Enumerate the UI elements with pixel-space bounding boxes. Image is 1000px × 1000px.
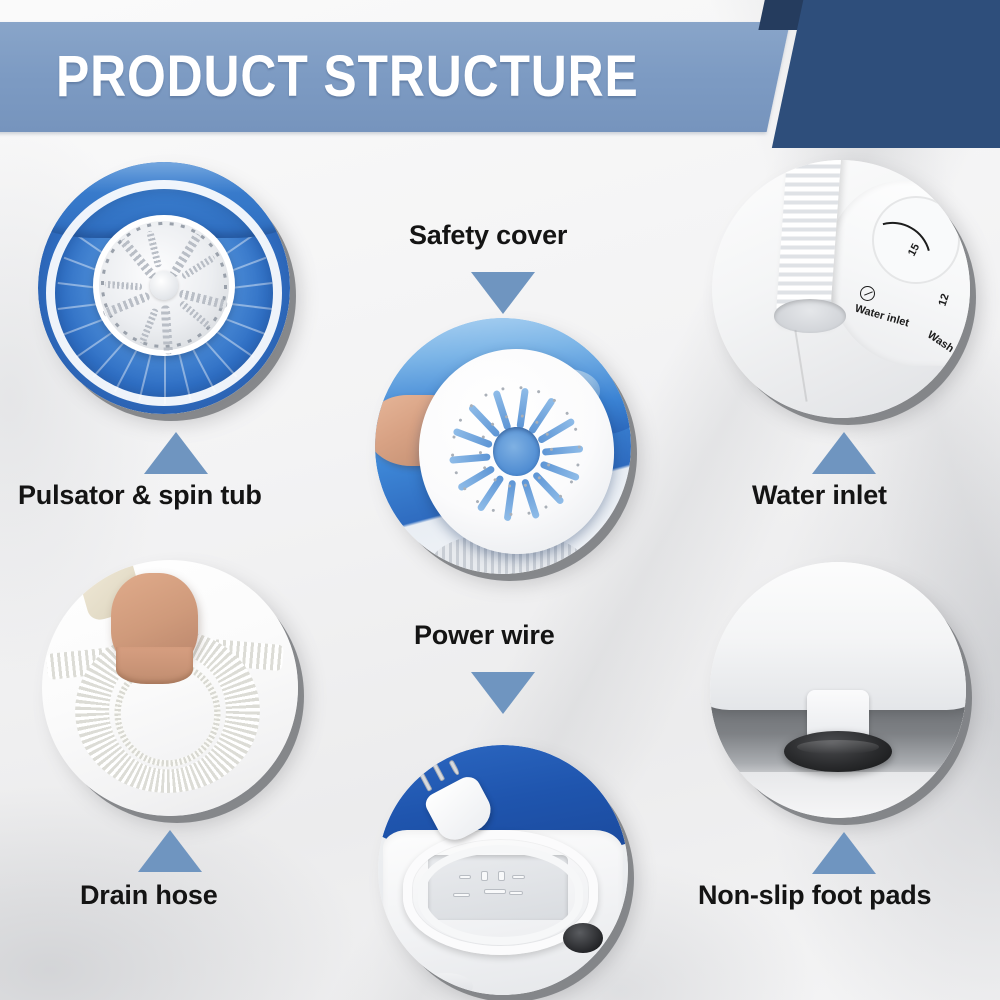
photo-inner <box>378 745 628 995</box>
inlet-port <box>774 299 846 333</box>
photo-inner <box>42 560 298 816</box>
header-banner: PRODUCT STRUCTURE <box>0 0 1000 152</box>
machine-foot <box>418 973 473 996</box>
photo-inner <box>375 318 631 574</box>
pointer-triangle-down-power-wire <box>471 672 535 714</box>
photo-inner <box>710 562 966 818</box>
pointer-triangle-up-foot-pads <box>812 832 876 874</box>
photo-drain-hose[interactable] <box>42 560 298 816</box>
caster-wheel <box>563 923 603 953</box>
page-title: PRODUCT STRUCTURE <box>56 38 639 116</box>
floor-surface <box>710 772 966 818</box>
photo-inner: Water inlet 15 12 Wash <box>712 160 970 418</box>
photo-non-slip-foot-pads[interactable] <box>710 562 966 818</box>
water-drop-icon <box>860 286 875 301</box>
caption-non-slip-foot-pads: Non-slip foot pads <box>698 880 931 911</box>
photo-inner <box>38 162 290 414</box>
caption-water-inlet: Water inlet <box>752 480 887 511</box>
pulsator-hub <box>150 271 178 299</box>
caption-power-wire: Power wire <box>414 620 555 651</box>
pulsator-disc <box>93 215 234 356</box>
pointer-triangle-up-water-inlet <box>812 432 876 474</box>
pointer-triangle-up-drain-hose <box>138 830 202 872</box>
machine-body-underside <box>710 562 966 710</box>
hand <box>111 573 198 670</box>
caption-drain-hose: Drain hose <box>80 880 218 911</box>
photo-pulsator-spin-tub[interactable] <box>38 162 290 414</box>
caption-pulsator-spin-tub: Pulsator & spin tub <box>18 480 262 511</box>
caption-safety-cover: Safety cover <box>409 220 567 251</box>
non-slip-rubber-pad <box>784 731 892 772</box>
photo-safety-cover[interactable] <box>375 318 631 574</box>
pointer-triangle-down-safety-cover <box>471 272 535 314</box>
power-cord-loop-inner <box>418 845 583 945</box>
photo-power-wire[interactable] <box>378 745 628 995</box>
header-accent-shape <box>772 0 1000 148</box>
pointer-triangle-up-pulsator <box>144 432 208 474</box>
photo-water-inlet[interactable]: Water inlet 15 12 Wash <box>712 160 970 418</box>
